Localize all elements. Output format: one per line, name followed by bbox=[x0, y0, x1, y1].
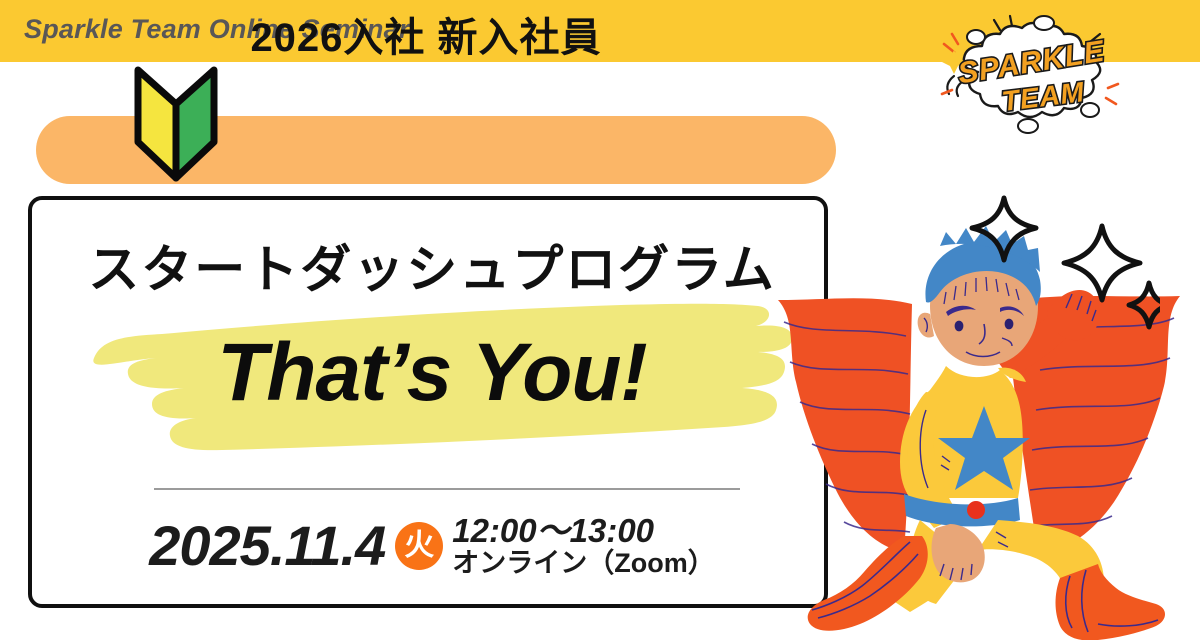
sparkle-stars-group bbox=[960, 186, 1160, 336]
belt-buckle bbox=[967, 501, 985, 519]
event-time: 12:00〜13:00 bbox=[452, 513, 715, 549]
event-venue: オンライン（Zoom） bbox=[452, 548, 715, 579]
sparkle-icon-1 bbox=[972, 198, 1036, 260]
seminar-poster: Sparkle Team Online Seminar bbox=[0, 0, 1200, 640]
boot-right bbox=[1056, 564, 1166, 640]
section-divider bbox=[154, 488, 740, 490]
schedule-row: 2025.11.4 火 12:00〜13:00 オンライン（Zoom） bbox=[32, 506, 832, 586]
time-venue-block: 12:00〜13:00 オンライン（Zoom） bbox=[452, 513, 715, 580]
event-date: 2025.11.4 bbox=[149, 518, 385, 574]
headline-block: That’s You! bbox=[32, 298, 832, 463]
sparkle-icon-2 bbox=[1064, 226, 1140, 300]
day-of-week-badge: 火 bbox=[395, 522, 443, 570]
sparkle-icon-3 bbox=[1129, 283, 1160, 327]
seminar-card: スタートダッシュプログラム That’s You! 2025.11.4 火 12… bbox=[28, 196, 828, 608]
program-title: スタートダッシュプログラム bbox=[32, 228, 832, 302]
new-employee-badge-label: 2026入社 新入社員 bbox=[0, 0, 800, 68]
cape-left bbox=[778, 298, 912, 552]
sparkle-team-logo: SPARKLE TEAM bbox=[940, 14, 1120, 134]
headline-text: That’s You! bbox=[32, 332, 832, 414]
shoshinsha-beginner-mark bbox=[134, 66, 218, 182]
day-of-week-label: 火 bbox=[404, 531, 434, 561]
